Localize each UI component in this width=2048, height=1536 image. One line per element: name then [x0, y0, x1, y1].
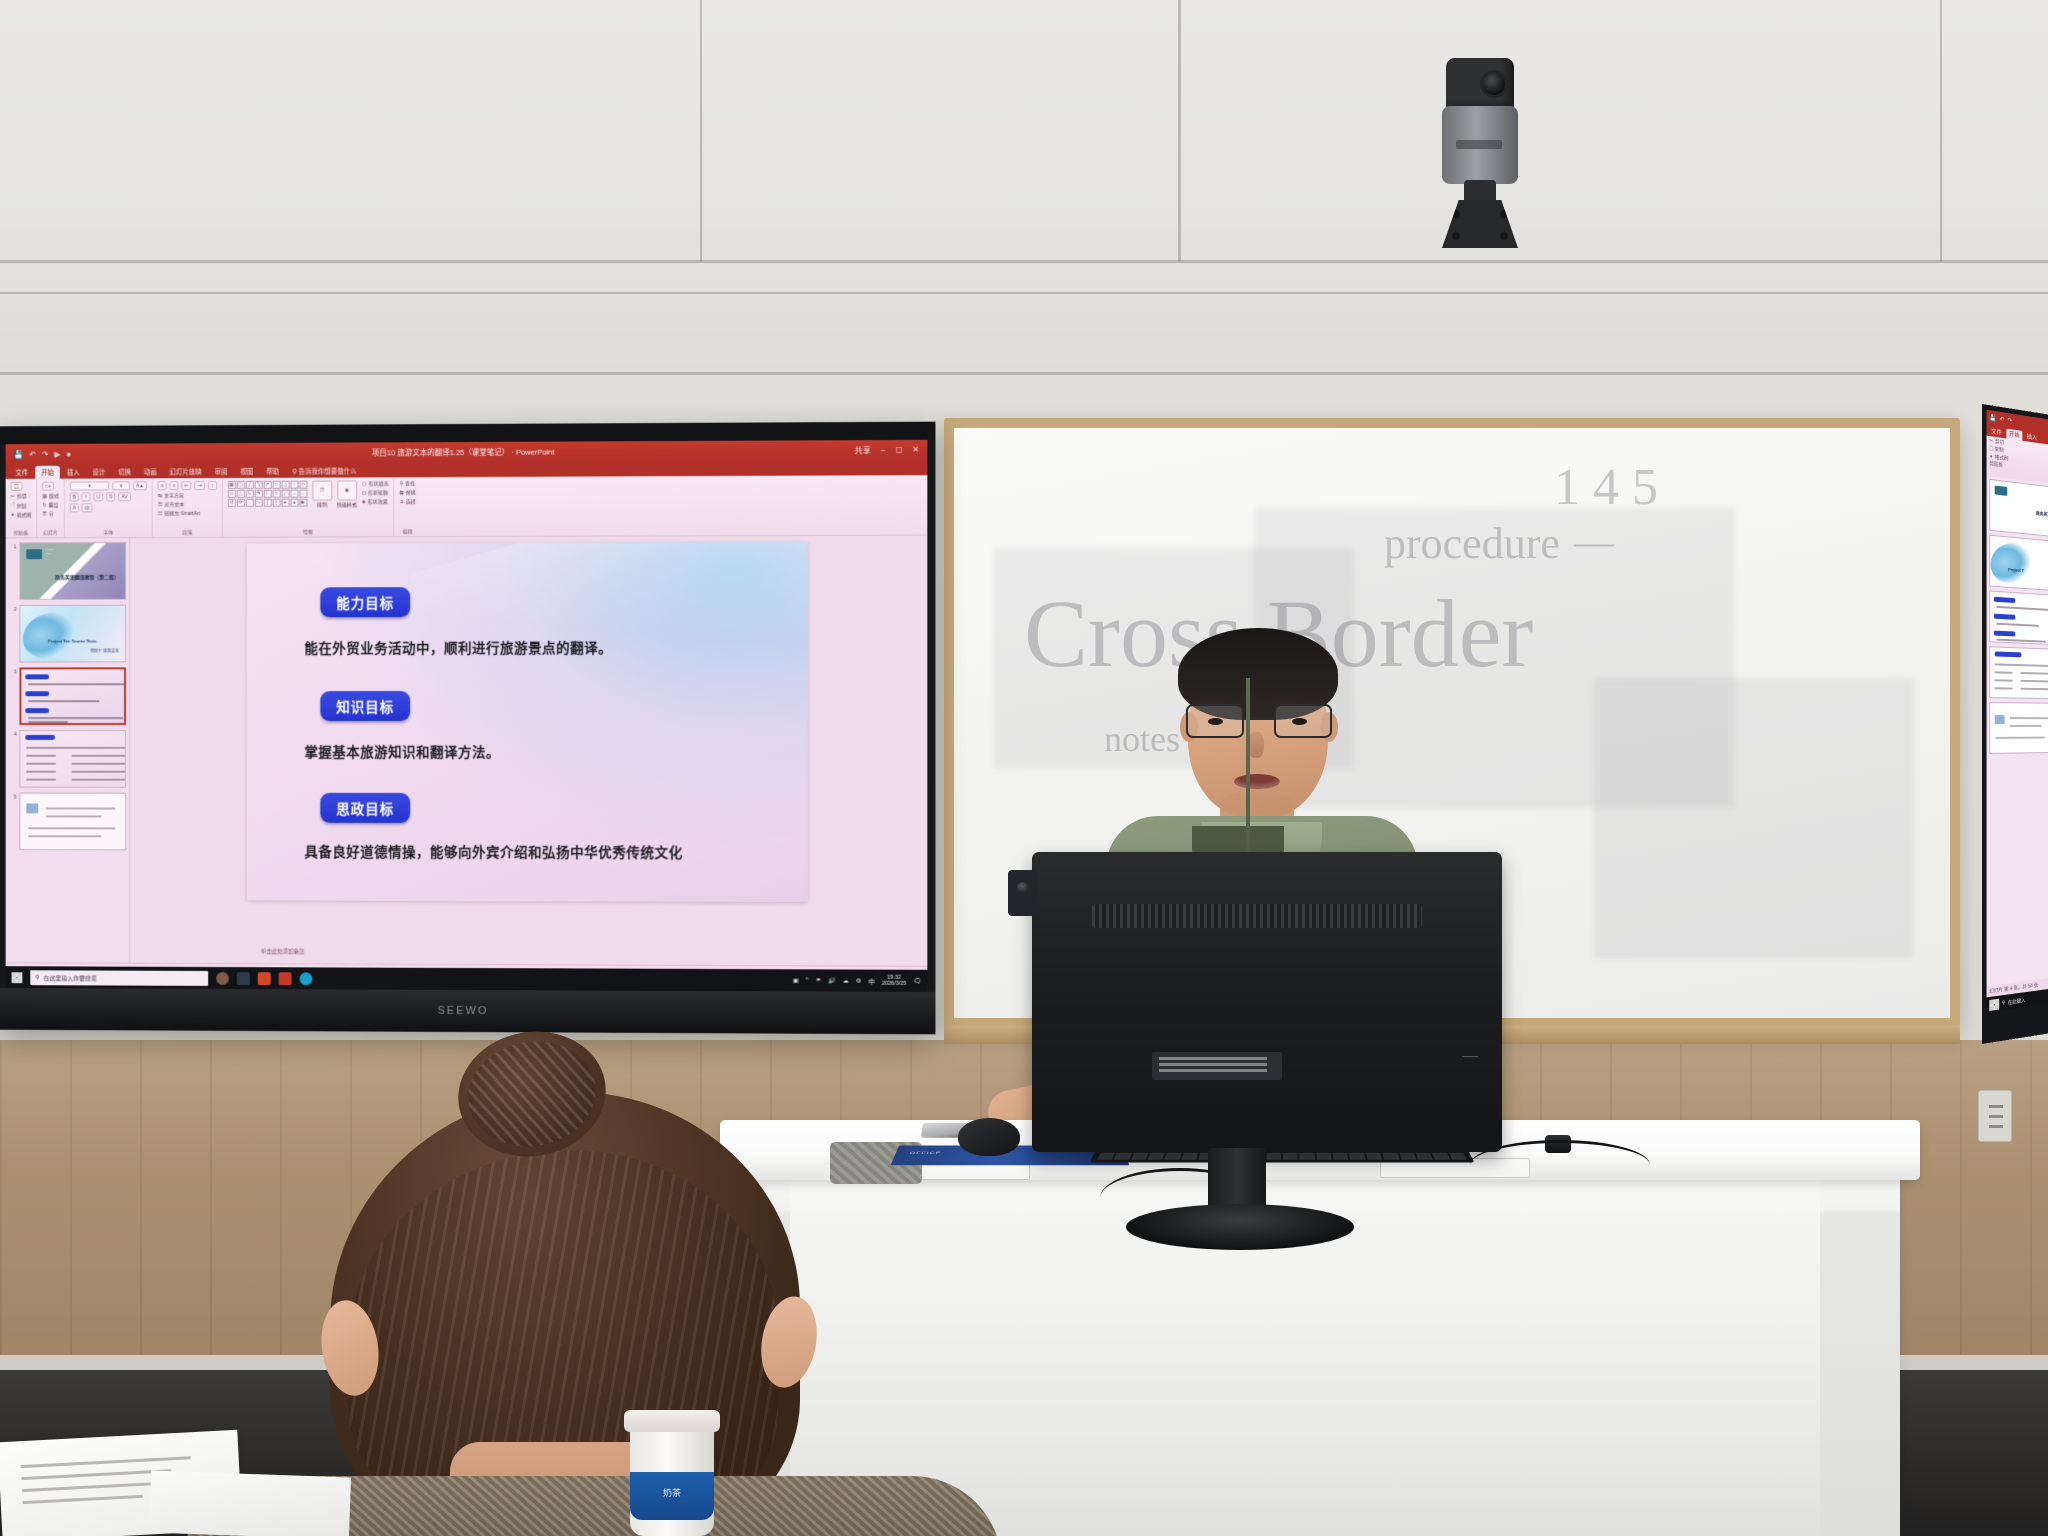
thumbnail-number: 2 [9, 605, 17, 613]
ime-icon[interactable]: ▣ [793, 977, 799, 984]
thumbnail-slide-1[interactable]: 商务英语翻 [1989, 479, 2048, 537]
clock-time: 19:32 [887, 974, 901, 980]
thumbnail-2-title-cn: 项目十 旅游文本 [90, 648, 119, 654]
shape-effects-button[interactable]: ◈ 形状效果 [362, 498, 388, 505]
chevron-up-icon[interactable]: ^ [806, 977, 809, 983]
paper-cup[interactable]: 奶茶 [630, 1418, 714, 1536]
slide-editing-stage[interactable]: 能力目标 能在外贸业务活动中，顺利进行旅游景点的翻译。 知识目标 掌握基本旅游知… [130, 536, 927, 966]
interactive-flat-panel-display[interactable]: 💾 ↶ ↷ ▶ ● 项目10 旅游文本的翻译1.25（课堂笔记） · Power… [0, 422, 935, 1035]
ceiling-acoustic-panels [0, 0, 2048, 400]
notes-placeholder[interactable]: 单击此处添加备注 [261, 947, 305, 955]
minimize-icon[interactable]: – [881, 445, 886, 456]
layout-button[interactable]: ▦ 版式 [42, 493, 59, 500]
convert-smartart-button[interactable]: ☷ 转换为 SmartArt [158, 510, 200, 517]
line-spacing-button[interactable]: ↕ [208, 481, 217, 490]
display-bezel-bottom: SEEWO [0, 988, 935, 1034]
thumbnail-number: 1 [9, 542, 17, 550]
group-label-clipboard: 剪贴板 [14, 529, 29, 537]
powerpoint-icon[interactable] [258, 972, 271, 985]
cup-label-band: 奶茶 [630, 1472, 714, 1520]
cortana-icon[interactable] [216, 972, 229, 985]
handout-papers-secondary[interactable] [149, 1471, 351, 1536]
system-tray[interactable]: ▣ ^ ☂ 🔊 ☁ ⚙ 中 19:32 2026/3/25 🗨 [793, 974, 921, 987]
thumbnail-row[interactable]: 3 [9, 667, 126, 725]
display-brand-label: SEEWO [438, 1005, 489, 1017]
publisher-logo-icon [26, 549, 42, 559]
increase-indent-button[interactable]: ⇥ [195, 481, 205, 490]
text-highlight-button[interactable]: ▧ [82, 503, 93, 512]
slide-thumbnail-pane[interactable]: 1 ————— 商务英语翻译教程（第二版） 2 Project [6, 538, 130, 963]
text-direction-button[interactable]: ↹ 文字方向 [158, 492, 184, 499]
tab-slideshow[interactable]: 幻灯片放映 [164, 465, 208, 478]
monitor-back-panel [1032, 852, 1502, 1152]
tab-design[interactable]: 设计 [86, 466, 111, 479]
thumbnail-row[interactable]: 1 ————— 商务英语翻译教程（第二版） [9, 542, 126, 600]
monitor-vents [1092, 904, 1422, 928]
dolphin-image [19, 609, 77, 663]
thumbnail-slide-4[interactable] [19, 730, 126, 788]
secondary-display[interactable]: 💾 ↶ ↷ 文件 开始 插入 ✂ 剪切 🗋 复制 ✦ 格式刷 剪贴板 商务英语翻 [1982, 404, 2048, 1044]
chin [1220, 792, 1294, 814]
undo-icon[interactable]: ↶ [2000, 415, 2005, 423]
font-family-select[interactable]: ▾ [70, 481, 109, 490]
camera-lens-icon [1480, 70, 1508, 98]
text-knowledge-goal[interactable]: 掌握基本旅游知识和翻译方法。 [304, 743, 765, 763]
thumbnail-number: 5 [9, 793, 17, 801]
select-button[interactable]: ➲ 选择 [400, 498, 416, 505]
eye-left [1208, 718, 1223, 725]
tab-file[interactable]: 文件 [1988, 426, 2004, 438]
thumbnail-1-title: 商务英语翻 [2036, 511, 2048, 519]
save-icon[interactable]: 💾 [1989, 414, 1996, 422]
search-placeholder-text: 在这里输入你要搜索 [43, 973, 96, 982]
nose [1248, 732, 1264, 758]
ribbon-group-paragraph[interactable]: ≡ ≡ ⇤ ⇥ ↕ ↹ 文字方向 ☰ 对齐文本 [153, 478, 223, 537]
close-icon[interactable]: ✕ [912, 444, 919, 455]
monitor-webcam [1008, 870, 1038, 916]
tab-help[interactable]: 帮助 [260, 465, 285, 478]
group-label-editing: 编辑 [403, 528, 413, 536]
find-button[interactable]: ⚲ 查找 [400, 480, 416, 487]
cup-label-text: 奶茶 [630, 1486, 714, 1499]
taskbar-search-text[interactable]: 在此键入 [2008, 997, 2026, 1006]
thumbnail-slide-5[interactable] [1989, 702, 2048, 754]
folder-icon[interactable] [279, 972, 292, 985]
replace-button[interactable]: ⇆ 替换 [400, 489, 416, 496]
classroom-scene: Cross Border procedure notes 1 4 5 — 💾 ↶… [0, 0, 2048, 1536]
camera-brand-label [1456, 140, 1502, 149]
paste-button[interactable]: 📋 [11, 482, 23, 491]
arrange-label: 排列 [317, 502, 327, 509]
share-button[interactable]: 共享 [855, 445, 871, 456]
current-slide[interactable]: 能力目标 能在外贸业务活动中，顺利进行旅游景点的翻译。 知识目标 掌握基本旅游知… [247, 542, 808, 902]
wall-power-outlet[interactable] [1978, 1090, 2012, 1142]
redo-icon[interactable]: ↷ [2008, 416, 2012, 424]
italic-button[interactable]: I [82, 492, 91, 501]
secondary-display-screen[interactable]: 💾 ↶ ↷ 文件 开始 插入 ✂ 剪切 🗋 复制 ✦ 格式刷 剪贴板 商务英语翻 [1987, 410, 2048, 1014]
pill-ability-goal[interactable]: 能力目标 [320, 587, 410, 617]
cut-button[interactable]: ✂ 剪切 [11, 493, 27, 500]
pill-knowledge-goal[interactable]: 知识目标 [320, 691, 410, 721]
search-icon: ⚲ [35, 974, 39, 981]
monitor-stand-base [1126, 1204, 1354, 1250]
arrange-icon[interactable]: ☷ [312, 481, 332, 501]
cloud-icon[interactable]: ☁ [843, 977, 849, 984]
ribbon-group-slides[interactable]: □+ ▦ 版式 ↻ 重设 ☰ 节 幻灯片 [37, 479, 64, 538]
group-label-slides: 幻灯片 [43, 529, 58, 537]
char-spacing-button[interactable]: AV [118, 492, 130, 501]
shape-gallery[interactable]: ▦▢╱ ╲↗□ △○◇ □△↳ ↷♡☆ ⤢→← ↺⟳⌵ ▷{} ▸▴▶ [228, 481, 307, 507]
quick-styles-label: 快速样式 [337, 501, 357, 508]
thumbnail-number: 3 [9, 667, 17, 675]
group-label-drawing: 绘图 [303, 528, 313, 536]
align-text-button[interactable]: ☰ 对齐文本 [158, 501, 184, 508]
search-icon: ⚲ [292, 469, 297, 476]
reset-button[interactable]: ↻ 重设 [42, 502, 58, 509]
window-controls[interactable]: 共享 – ◻ ✕ [855, 444, 920, 455]
format-painter-button[interactable]: ✦ 格式刷 [11, 512, 32, 519]
font-color-button[interactable]: A [70, 503, 79, 512]
search-icon[interactable]: ⚲ [2002, 1000, 2005, 1006]
tab-home[interactable]: 开始 [2006, 429, 2022, 441]
whiteboard-writing-2: procedure [1384, 518, 1560, 569]
mouse-pad-text: OFFICE [909, 1152, 942, 1155]
tab-view[interactable]: 视图 [234, 465, 259, 478]
powerpoint-workspace[interactable]: 1 ————— 商务英语翻译教程（第二版） 2 Project [6, 536, 928, 966]
underline-button[interactable]: U [94, 492, 104, 501]
ptz-classroom-camera [1434, 58, 1526, 248]
thumbnail-slide-2[interactable]: Project T [1989, 535, 2048, 592]
document-title: 项目10 旅游文本的翻译1.25（课堂笔记） · PowerPoint [6, 444, 928, 459]
slide-5-image [26, 803, 38, 813]
bullets-button[interactable]: ≡ [158, 481, 167, 490]
network-icon[interactable]: ☂ [816, 977, 821, 984]
shape-outline-button[interactable]: ◻ 形状轮廓 [362, 489, 388, 496]
increase-font-icon[interactable]: A▲ [133, 481, 147, 490]
thumbnail-slide-1[interactable]: ————— 商务英语翻译教程（第二版） [19, 542, 126, 600]
eye-right [1292, 718, 1307, 725]
text-ideological-goal[interactable]: 具备良好道德情操，能够向外宾介绍和弘扬中华优秀传统文化 [304, 843, 725, 863]
group-label-paragraph: 段落 [182, 529, 192, 537]
tab-file[interactable]: 文件 [10, 466, 35, 479]
thumbnail-row[interactable]: 2 Project Ten Tourist Texts 项目十 旅游文本 [9, 605, 126, 663]
secondary-thumbnail-pane[interactable]: 商务英语翻 Project T [1987, 476, 2048, 757]
tab-review[interactable]: 审阅 [209, 465, 234, 478]
tab-transitions[interactable]: 切换 [112, 465, 137, 478]
settings-icon[interactable]: ⚙ [856, 977, 861, 984]
camera-wall-mount [1442, 200, 1518, 248]
taskbar-search-input[interactable]: ⚲ 在这里输入你要搜索 [30, 970, 208, 986]
tab-home[interactable]: 开始 [35, 466, 60, 479]
ribbon-group-clipboard[interactable]: 📋 ✂ 剪切 🗋 复制 ✦ 格式刷 剪贴板 [6, 479, 38, 538]
text-ability-goal[interactable]: 能在外贸业务活动中，顺利进行旅游景点的翻译。 [304, 639, 765, 659]
thumbnail-row[interactable]: 5 [9, 793, 126, 851]
maximize-icon[interactable]: ◻ [896, 444, 903, 455]
thumbnail-slide-3-selected[interactable] [19, 667, 126, 725]
tell-me-search[interactable]: ⚲ 告诉我你想要做什么 [286, 464, 363, 477]
decrease-indent-button[interactable]: ⇤ [182, 481, 192, 490]
notification-icon[interactable]: 🗨 [914, 977, 922, 984]
bold-button[interactable]: B [70, 492, 79, 501]
clock-date: 2026/3/25 [882, 981, 907, 987]
ribbon-group-font[interactable]: ▾ ▾ A▲ B I U S AV [65, 478, 153, 537]
pill-ideological-goal[interactable]: 思政目标 [320, 793, 410, 823]
display-screen[interactable]: 💾 ↶ ↷ ▶ ● 项目10 旅游文本的翻译1.25（课堂笔记） · Power… [6, 440, 928, 992]
copy-button[interactable]: 🗋 复制 [11, 502, 27, 510]
numbering-button[interactable]: ≡ [170, 481, 179, 490]
thumbnail-slide-5[interactable] [19, 793, 126, 851]
browser-icon[interactable] [300, 972, 313, 985]
quick-styles-icon[interactable]: ◉ [337, 480, 357, 500]
ribbon-group-editing[interactable]: ⚲ 查找 ⇆ 替换 ➲ 选择 编辑 [395, 477, 421, 536]
thumbnail-slide-2[interactable]: Project Ten Tourist Texts 项目十 旅游文本 [19, 605, 126, 663]
shape-fill-button[interactable]: ▢ 形状填充 [362, 480, 389, 487]
mouth-speaking [1234, 774, 1280, 789]
thumbnail-number: 4 [9, 730, 17, 738]
font-size-select[interactable]: ▾ [112, 481, 130, 490]
tab-animations[interactable]: 动画 [138, 465, 163, 478]
ribbon[interactable]: 📋 ✂ 剪切 🗋 复制 ✦ 格式刷 剪贴板 □+ ▦ 版式 ↻ 重设 ☰ 节 [6, 475, 928, 538]
thumbnail-1-title: 商务英语翻译教程（第二版） [20, 574, 119, 581]
language-cn-icon[interactable]: 中 [868, 976, 874, 985]
windows-start-icon[interactable] [12, 972, 23, 983]
desktop-monitor-rear: —— [1032, 852, 1502, 1152]
powerpoint-window[interactable]: 💾 ↶ ↷ ▶ ● 项目10 旅游文本的翻译1.25（课堂笔记） · Power… [6, 440, 928, 992]
explorer-icon[interactable] [237, 972, 250, 985]
new-slide-button[interactable]: □+ [42, 482, 54, 491]
thumbnail-slide-4[interactable] [1989, 646, 2048, 699]
camera-head [1446, 58, 1514, 110]
taskbar-clock[interactable]: 19:32 2026/3/25 [882, 974, 907, 987]
tab-insert[interactable]: 插入 [2024, 431, 2040, 443]
volume-icon[interactable]: 🔊 [828, 977, 836, 984]
computer-mouse[interactable] [958, 1118, 1020, 1156]
thumbnail-row[interactable]: 4 [9, 730, 126, 788]
tab-insert[interactable]: 插入 [61, 466, 86, 479]
windows-start-icon[interactable] [1989, 998, 1999, 1010]
publisher-name: ————— [45, 548, 54, 556]
thumbnail-slide-3[interactable] [1989, 590, 2048, 645]
ribbon-group-drawing[interactable]: ▦▢╱ ╲↗□ △○◇ □△↳ ↷♡☆ ⤢→← ↺⟳⌵ ▷{} ▸▴▶ [223, 477, 395, 536]
cup-lid [624, 1410, 720, 1432]
student-person-foreground [330, 1040, 850, 1536]
thumbnail-2-title-en: Project Ten Tourist Texts [48, 639, 97, 644]
section-button[interactable]: ☰ 节 [42, 510, 53, 517]
monitor-label-text [1159, 1057, 1267, 1072]
powerpoint-title-bar: 💾 ↶ ↷ ▶ ● 项目10 旅游文本的翻译1.25（课堂笔记） · Power… [6, 440, 928, 464]
strikethrough-button[interactable]: S [106, 492, 115, 501]
group-label-font: 字体 [103, 529, 113, 537]
monitor-port-label: —— [1462, 1052, 1478, 1061]
